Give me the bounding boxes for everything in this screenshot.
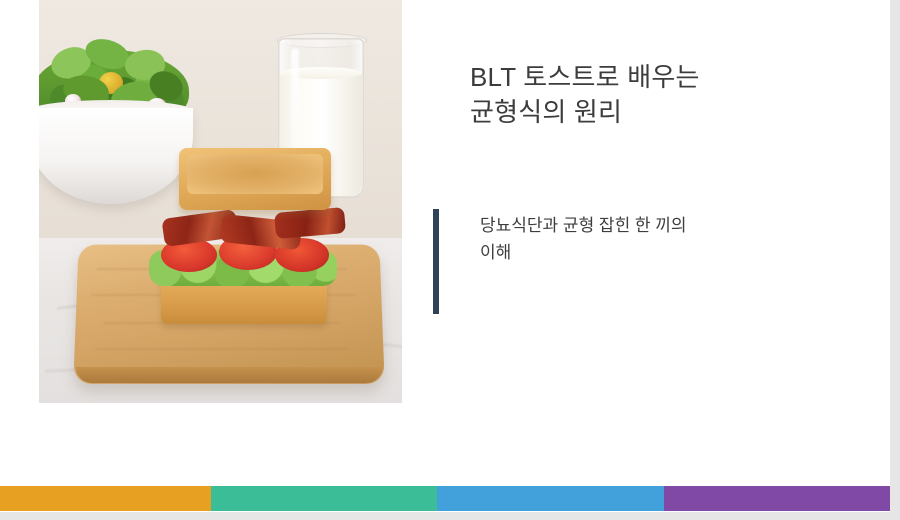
slide-canvas: BLT 토스트로 배우는 균형식의 원리 당뇨식단과 균형 잡힌 한 끼의 이해 [0,0,890,512]
footer-bar-purple [664,486,890,511]
footer-bar-orange [0,486,211,511]
accent-bar [433,209,439,314]
cutting-board-edge [76,367,382,383]
subtitle-block: 당뇨식단과 균형 잡힌 한 끼의 이해 [433,209,803,314]
footer-color-bars [0,486,890,511]
footer-bar-blue [437,486,664,511]
hero-image[interactable] [39,0,402,403]
wood-grain-icon [95,348,349,350]
slide-subtitle: 당뇨식단과 균형 잡힌 한 끼의 이해 [480,213,800,267]
footer-bar-teal [211,486,437,511]
toast-crust-face [187,154,323,194]
slide-title: BLT 토스트로 배우는 균형식의 원리 [470,60,830,130]
